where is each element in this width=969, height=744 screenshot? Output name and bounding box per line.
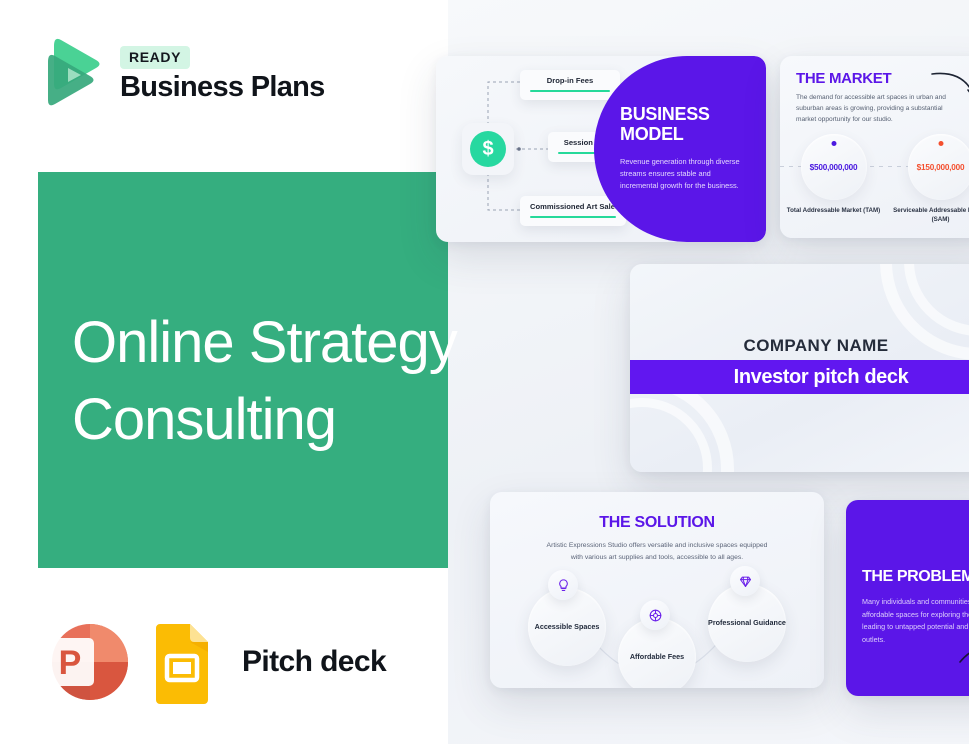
solution-node-accessible-spaces[interactable]: Accessible Spaces xyxy=(528,588,606,666)
slide-title: THE SOLUTION xyxy=(490,514,824,532)
market-stat-tam: $500,000,000 Total Addressable Market (T… xyxy=(780,134,887,225)
slide-description: Many individuals and communities lack ac… xyxy=(862,596,969,646)
stat-circle: $500,000,000 xyxy=(801,134,867,200)
revenue-hub: $ xyxy=(462,123,514,175)
curved-line-decoration-icon xyxy=(958,636,969,666)
slide-the-market[interactable]: THE MARKET The demand for accessible art… xyxy=(780,56,969,238)
slide-business-model[interactable]: $ Drop-in Fees Session Workshops Commiss… xyxy=(436,56,766,242)
dollar-symbol: $ xyxy=(482,138,493,161)
slide-description: Artistic Expressions Studio offers versa… xyxy=(540,540,774,564)
company-name: COMPANY NAME xyxy=(630,336,969,356)
target-icon xyxy=(640,600,670,630)
poster-canvas: READY Business Plans Online Strategy Con… xyxy=(0,0,969,744)
ready-badge: READY xyxy=(120,46,190,69)
format-label: Pitch deck xyxy=(242,645,386,679)
brand-name: Business Plans xyxy=(120,71,325,104)
solution-nodes: Accessible Spaces Affordable Fees Profes… xyxy=(490,580,824,688)
deck-title-band: Investor pitch deck xyxy=(630,360,969,394)
google-slides-icon xyxy=(150,620,214,704)
stat-value: $500,000,000 xyxy=(810,163,858,172)
slide-the-problem[interactable]: THE PROBLEM Many individuals and communi… xyxy=(846,500,969,696)
accent-bar xyxy=(530,90,610,92)
node-label: Accessible Spaces xyxy=(535,622,600,633)
node-label: Affordable Fees xyxy=(630,652,684,663)
deck-title: Investor pitch deck xyxy=(734,366,909,389)
hero-title: Online Strategy Consulting xyxy=(72,305,542,458)
business-model-panel: BUSINESS MODEL Revenue generation throug… xyxy=(594,56,766,242)
format-row: P Pitch deck xyxy=(40,618,386,706)
brand-logo: READY Business Plans xyxy=(40,36,325,114)
slide-description: Revenue generation through diverse strea… xyxy=(620,156,748,193)
svg-text:P: P xyxy=(59,644,82,682)
stat-value: $150,000,000 xyxy=(917,163,965,172)
lightbulb-icon xyxy=(548,570,578,600)
slide-description: The demand for accessible art spaces in … xyxy=(796,92,956,126)
stat-caption: Serviceable Addressable Market (SAM) xyxy=(887,207,969,225)
stat-dot xyxy=(831,141,836,146)
slide-title: BUSINESS MODEL xyxy=(620,104,766,144)
dollar-coin-icon: $ xyxy=(470,131,506,167)
slide-investor-pitch-deck[interactable]: COMPANY NAME Investor pitch deck xyxy=(630,264,969,472)
node-label: Professional Guidance xyxy=(708,618,786,629)
stat-caption: Total Addressable Market (TAM) xyxy=(787,207,880,216)
accent-bar xyxy=(530,216,616,218)
stat-dot xyxy=(938,141,943,146)
market-stats: $500,000,000 Total Addressable Market (T… xyxy=(780,134,969,225)
revenue-item-label: Commissioned Art Sales xyxy=(530,202,616,211)
slide-title: THE PROBLEM xyxy=(862,568,969,586)
slide-title: THE MARKET xyxy=(796,70,891,87)
market-stat-sam: $150,000,000 Serviceable Addressable Mar… xyxy=(887,134,969,225)
diamond-icon xyxy=(730,566,760,596)
brand-text-group: READY Business Plans xyxy=(120,46,325,104)
revenue-item-label: Drop-in Fees xyxy=(530,76,610,85)
revenue-item-drop-in-fees[interactable]: Drop-in Fees xyxy=(520,70,620,100)
powerpoint-icon: P xyxy=(40,618,128,706)
play-triangles-logo-icon xyxy=(40,36,106,114)
stat-circle: $150,000,000 xyxy=(908,134,969,200)
slide-the-solution[interactable]: THE SOLUTION Artistic Expressions Studio… xyxy=(490,492,824,688)
